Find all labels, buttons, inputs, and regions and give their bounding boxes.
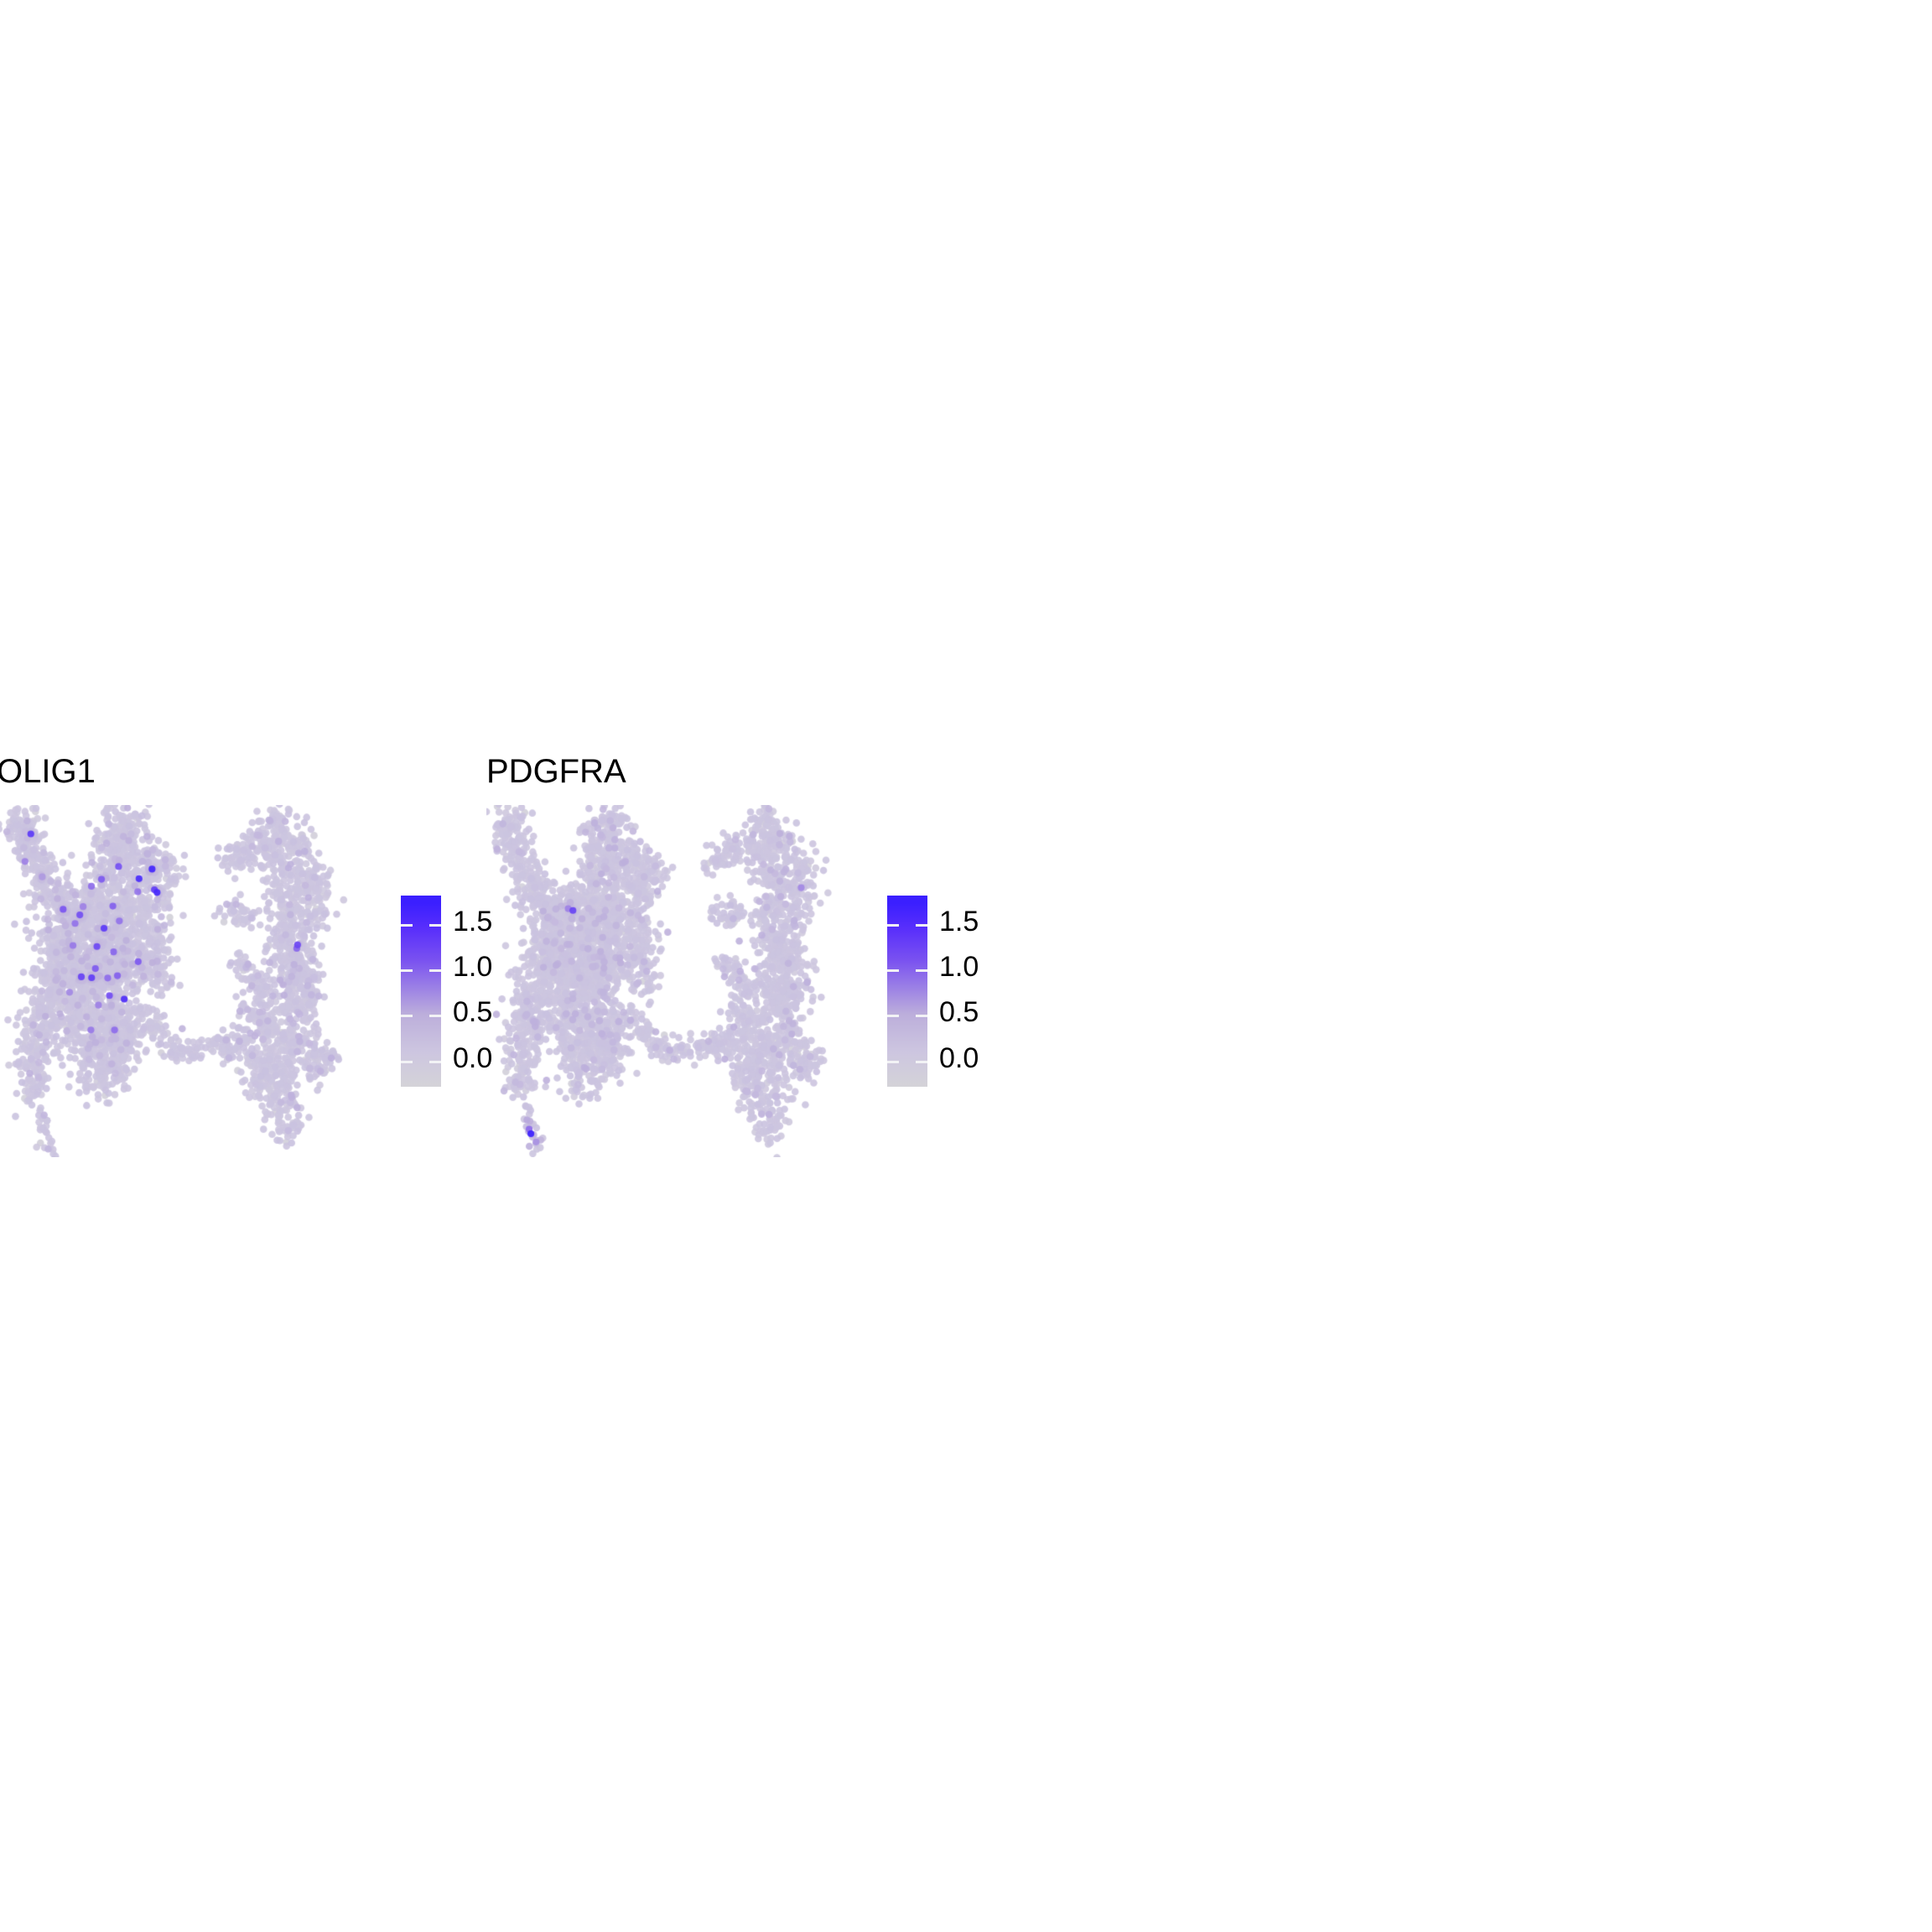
colorbar-tick [916, 969, 927, 972]
colorbar-tick [916, 924, 927, 927]
colorbar-tick [916, 1015, 927, 1017]
colorbar-tick [887, 1015, 899, 1017]
scatter-plot-olig1 [0, 805, 394, 1157]
colorbar-tick-label: 0.5 [939, 996, 979, 1029]
colorbar-tick [429, 924, 441, 927]
colorbar-tick [429, 1015, 441, 1017]
colorbar-tick [429, 1061, 441, 1063]
colorbar-tick [429, 969, 441, 972]
colorbar-tick [887, 969, 899, 972]
colorbar-tick-label: 0.0 [939, 1042, 979, 1075]
scatter-plot-pdgfra [486, 805, 880, 1157]
panel-title-pdgfra: PDGFRA [486, 753, 626, 791]
colorbar-tick [887, 1061, 899, 1063]
colorbar-tick-label: 1.5 [939, 906, 979, 938]
colorbar-tick [401, 1015, 413, 1017]
colorbar-tick [401, 969, 413, 972]
colorbar-tick [887, 924, 899, 927]
figure-root: OLIG1 1.51.00.50.0 PDGFRA 1.51.00.50.0 [0, 0, 1932, 1932]
colorbar-tick [401, 924, 413, 927]
colorbar-tick [401, 1061, 413, 1063]
colorbar-tick-label: 1.0 [939, 951, 979, 984]
colorbar-tick [916, 1061, 927, 1063]
panel-title-olig1: OLIG1 [0, 753, 96, 791]
